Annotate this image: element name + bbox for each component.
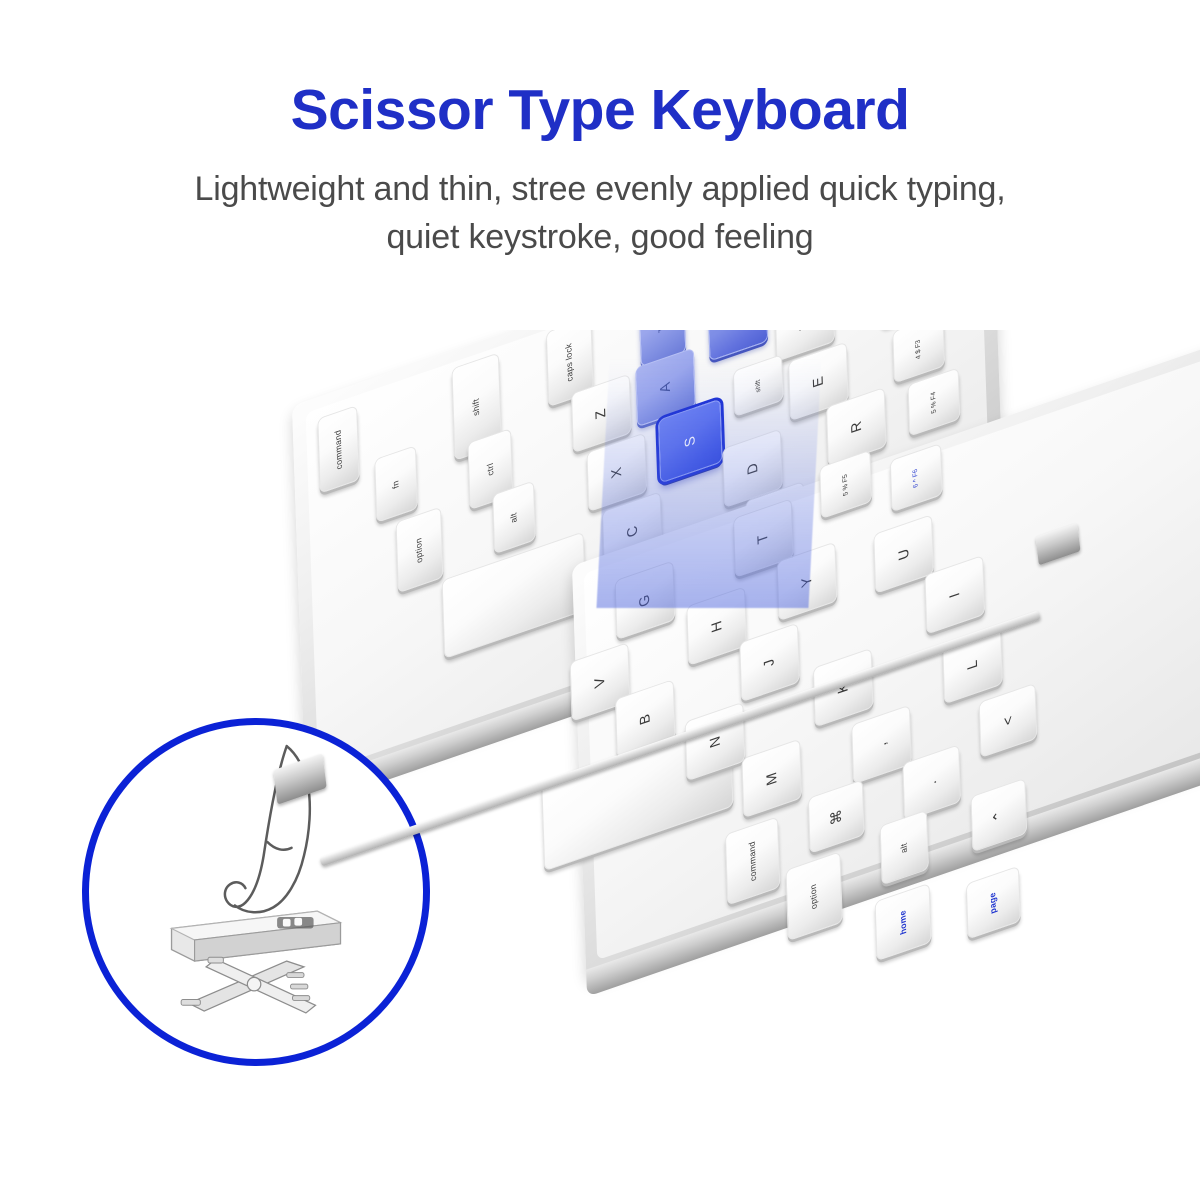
page-title: Scissor Type Keyboard	[0, 82, 1200, 139]
scissor-mechanism-inset	[82, 718, 430, 1066]
key-command-left[interactable]: command	[317, 405, 359, 494]
key-page[interactable]: page	[966, 866, 1021, 940]
header-block: Scissor Type Keyboard Lightweight and th…	[0, 0, 1200, 262]
subtitle-line-2: quiet keystroke, good feeling	[0, 213, 1200, 261]
keycap-icon	[172, 911, 341, 961]
inset-illustration	[89, 725, 423, 1059]
subtitle-line-1: Lightweight and thin, stree evenly appli…	[0, 165, 1200, 213]
scissor-mechanism-icon	[181, 957, 315, 1013]
page-subtitle: Lightweight and thin, stree evenly appli…	[0, 165, 1200, 262]
